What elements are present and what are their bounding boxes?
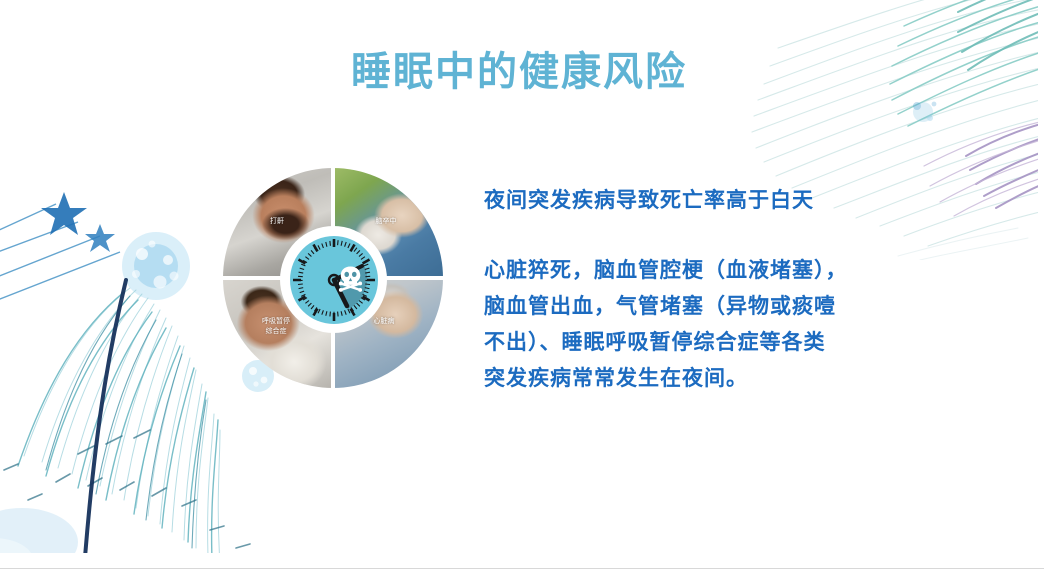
viewport-footer-strip	[0, 569, 1044, 580]
collage-label-snoring: 打鼾	[249, 216, 305, 226]
body-spacer	[484, 218, 884, 252]
star-sparkle-small	[85, 224, 115, 252]
body-paragraph-line-1: 心脏猝死，脑血管腔梗（血液堵塞），	[484, 252, 884, 288]
screenshot-viewport: 睡眠中的健康风险 打鼾 脑卒中 呼吸暂停 综合症 心脏病	[0, 0, 1044, 580]
dandelion-puff-large	[122, 232, 190, 300]
slide-bottom-margin	[0, 553, 1044, 568]
body-paragraph-line-2: 脑血管出血，气管堵塞（异物或痰噎	[484, 288, 884, 324]
feather-spine	[84, 280, 126, 553]
body-paragraph-line-4: 突发疾病常常发生在夜间。	[484, 360, 884, 396]
presentation-slide: 睡眠中的健康风险 打鼾 脑卒中 呼吸暂停 综合症 心脏病	[0, 0, 1038, 553]
body-heading-line: 夜间突发疾病导致死亡率高于白天	[484, 182, 884, 218]
star-sparkle-large	[41, 192, 87, 235]
center-clock	[280, 226, 387, 333]
collage-label-stroke: 脑卒中	[353, 216, 419, 226]
body-paragraph-line-3: 不出）、睡眠呼吸暂停综合症等各类	[484, 324, 884, 360]
slide-title: 睡眠中的健康风险	[0, 48, 1038, 96]
body-text-block: 夜间突发疾病导致死亡率高于白天 心脏猝死，脑血管腔梗（血液堵塞）， 脑血管出血，…	[484, 182, 884, 396]
clock-face	[290, 236, 378, 324]
